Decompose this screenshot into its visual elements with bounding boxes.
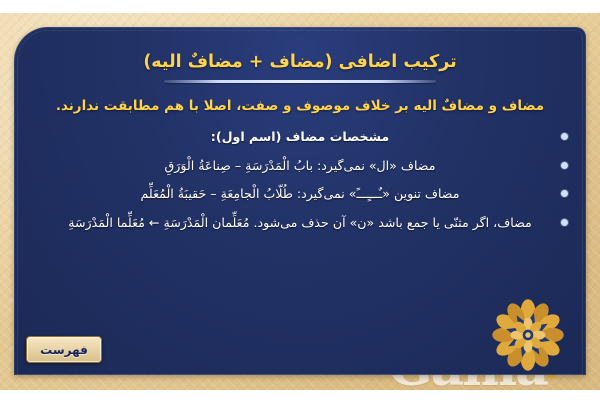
rosette-ornament-icon: [490, 297, 566, 373]
bullet-dot-icon: [561, 190, 568, 197]
top-white-band: [0, 0, 600, 13]
content-card: ترکیب اضافی (مضاف + مضافٌ الیه) مضاف و م…: [14, 27, 586, 375]
list-item: مضاف تنوین «ـٌـــٍـــً» نمی‌گیرد: طُلّاب…: [32, 184, 568, 204]
list-item-label: مضاف، اگر مثنّی یا جمع باشد «ن» آن حذف م…: [32, 213, 552, 233]
bullet-dot-icon: [561, 162, 568, 169]
bullet-dot-icon: [561, 219, 568, 226]
index-button-label: فهرست: [40, 343, 88, 357]
title-underline: [164, 80, 436, 83]
list-item: مضاف، اگر مثنّی یا جمع باشد «ن» آن حذف م…: [32, 213, 568, 233]
index-button[interactable]: فهرست: [26, 336, 102, 363]
bottom-white-band: [0, 390, 600, 400]
bullet-dot-icon: [561, 133, 568, 140]
subtitle-text: مضاف و مضافٌ الیه بر خلاف موصوف و صفت، ا…: [14, 98, 586, 114]
list-item-label: مضاف «ال» نمی‌گیرد: بابُ الْمَدْرَسَةِ –…: [32, 156, 552, 176]
slide-root: Gama ترکیب اضافی (مضاف + مضافٌ الیه) مضا…: [0, 0, 600, 400]
list-item-label: مشخصات مضاف (اسم اول):: [32, 127, 552, 147]
page-title: ترکیب اضافی (مضاف + مضافٌ الیه): [14, 51, 586, 74]
bullet-list: مشخصات مضاف (اسم اول): مضاف «ال» نمی‌گیر…: [32, 127, 568, 241]
title-block: ترکیب اضافی (مضاف + مضافٌ الیه): [14, 51, 586, 83]
list-item: مشخصات مضاف (اسم اول):: [32, 127, 568, 147]
list-item-label: مضاف تنوین «ـٌـــٍـــً» نمی‌گیرد: طُلّاب…: [32, 184, 552, 204]
list-item: مضاف «ال» نمی‌گیرد: بابُ الْمَدْرَسَةِ –…: [32, 156, 568, 176]
